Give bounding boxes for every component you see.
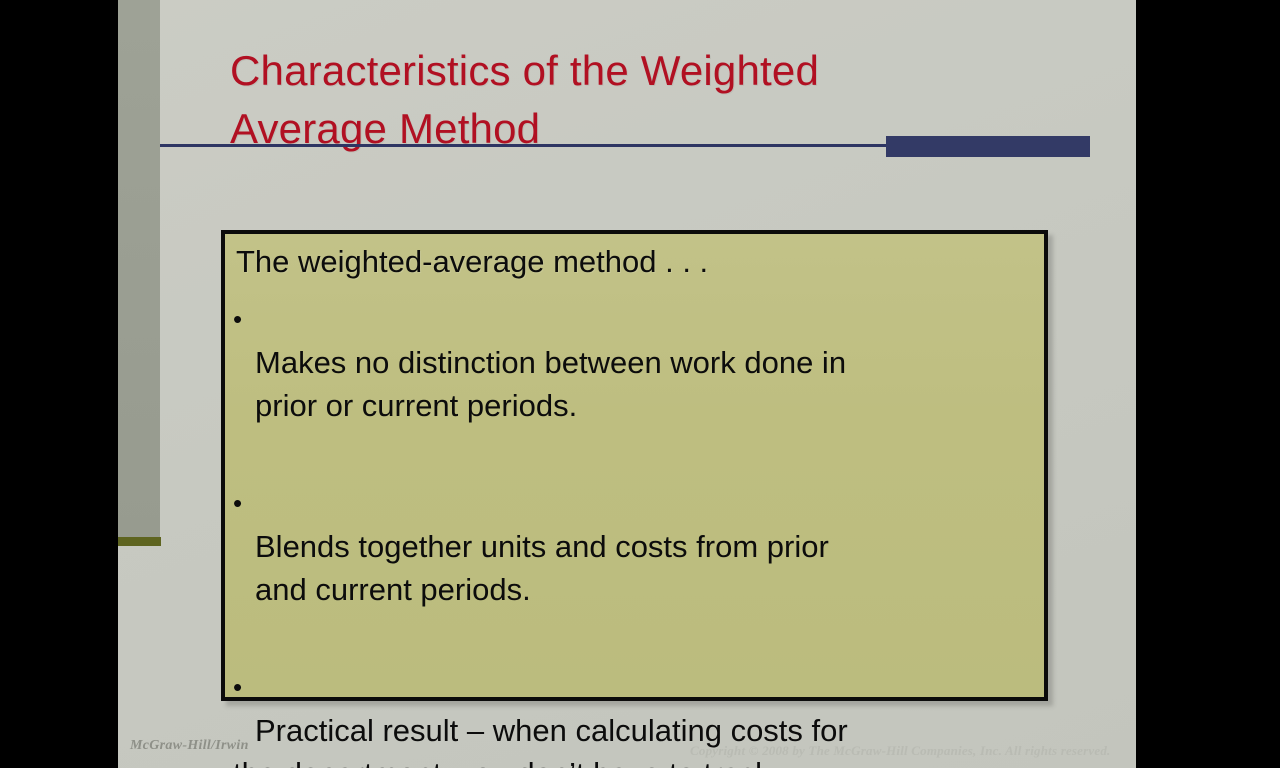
content-box: The weighted-average method . . . • Make… [221,230,1048,701]
bullet-2-line2: and current periods. [255,568,1036,611]
bullet-item-1: • Makes no distinction between work done… [233,298,1036,470]
footer-copyright: Copyright © 2008 by The McGraw-Hill Comp… [690,743,1111,759]
bullet-2-line1: Blends together units and costs from pri… [255,529,829,564]
left-decorative-bar [118,0,160,540]
bullet-dot-icon: • [233,482,255,525]
bullet-dot-icon: • [233,666,255,709]
content-lead-line: The weighted-average method . . . [233,240,1036,284]
footer-brand: McGraw-Hill/Irwin [130,738,249,754]
bullet-dot-icon: • [233,298,255,341]
bullet-1-line2: prior or current periods. [255,384,1036,427]
slide-root: Characteristics of the Weighted Average … [0,0,1280,768]
title-divider-line [160,144,888,147]
bullet-1-text: Makes no distinction between work done i… [255,298,1036,470]
title-divider-block [886,136,1090,157]
slide-canvas: Characteristics of the Weighted Average … [118,0,1136,768]
bullet-item-2: • Blends together units and costs from p… [233,482,1036,654]
bullet-1-line1: Makes no distinction between work done i… [255,345,846,380]
left-bar-olive-accent [118,537,161,546]
bullet-2-text: Blends together units and costs from pri… [255,482,1036,654]
content-box-inner: The weighted-average method . . . • Make… [233,240,1036,768]
